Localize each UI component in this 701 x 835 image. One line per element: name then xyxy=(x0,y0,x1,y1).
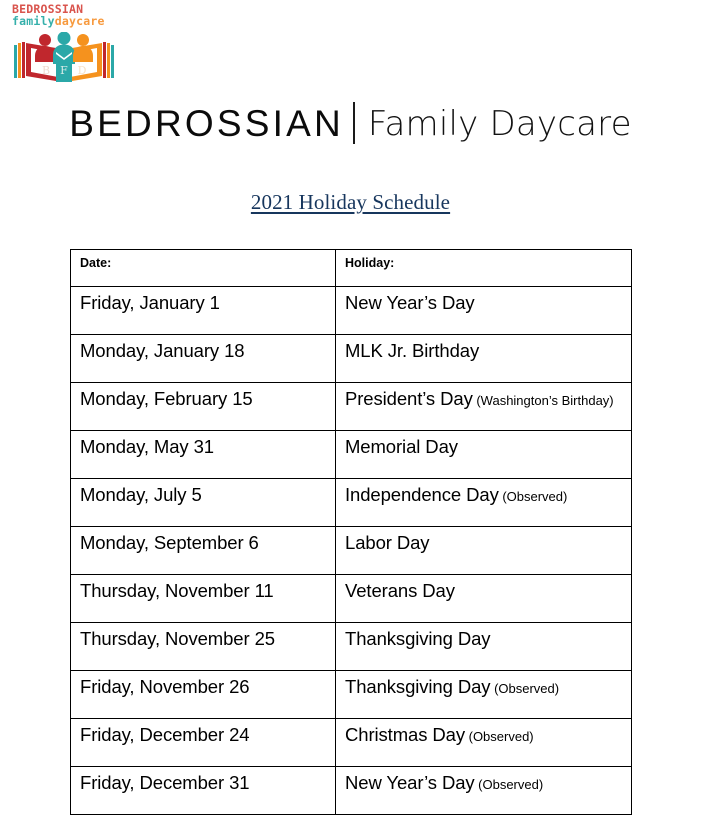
table-header-row: Date: Holiday: xyxy=(71,250,632,287)
cell-holiday: Veterans Day xyxy=(336,575,632,623)
holiday-name: President’s Day xyxy=(345,388,473,409)
holiday-note: (Observed) xyxy=(465,729,534,744)
table-row: Monday, February 15President’s Day (Wash… xyxy=(71,383,632,431)
cell-holiday: Thanksgiving Day (Observed) xyxy=(336,671,632,719)
holiday-note: (Observed) xyxy=(490,681,559,696)
cell-date: Thursday, November 11 xyxy=(71,575,336,623)
table-row: Friday, January 1New Year’s Day xyxy=(71,287,632,335)
holiday-name: Labor Day xyxy=(345,532,429,553)
cell-holiday: Labor Day xyxy=(336,527,632,575)
cell-date: Monday, January 18 xyxy=(71,335,336,383)
cell-holiday: Memorial Day xyxy=(336,431,632,479)
brand-logo: BEDROSSIAN familydaycare B xyxy=(12,4,124,88)
table-row: Thursday, November 25Thanksgiving Day xyxy=(71,623,632,671)
holiday-name: MLK Jr. Birthday xyxy=(345,340,479,361)
brand-wordmark: BEDROSSIAN familydaycare xyxy=(12,4,124,28)
masthead: BEDROSSIANFamily Daycare xyxy=(0,103,701,145)
cell-holiday: New Year’s Day (Observed) xyxy=(336,767,632,815)
cell-holiday: New Year’s Day xyxy=(336,287,632,335)
holiday-name: Memorial Day xyxy=(345,436,458,457)
cell-date: Friday, November 26 xyxy=(71,671,336,719)
cell-holiday: MLK Jr. Birthday xyxy=(336,335,632,383)
holiday-name: New Year’s Day xyxy=(345,772,475,793)
cell-date: Monday, September 6 xyxy=(71,527,336,575)
table-header: Date: Holiday: xyxy=(71,250,632,287)
table-row: Monday, July 5Independence Day (Observed… xyxy=(71,479,632,527)
holiday-name: Veterans Day xyxy=(345,580,455,601)
cell-holiday: President’s Day (Washington’s Birthday) xyxy=(336,383,632,431)
cell-date: Thursday, November 25 xyxy=(71,623,336,671)
cell-date: Friday, January 1 xyxy=(71,287,336,335)
cell-holiday: Thanksgiving Day xyxy=(336,623,632,671)
table-row: Friday, December 24Christmas Day (Observ… xyxy=(71,719,632,767)
holiday-name: Christmas Day xyxy=(345,724,465,745)
holiday-note: (Washington’s Birthday) xyxy=(473,393,614,408)
holiday-schedule-table: Date: Holiday: Friday, January 1New Year… xyxy=(70,249,632,815)
page-title-text: 2021 Holiday Schedule xyxy=(251,190,450,214)
table-row: Friday, November 26Thanksgiving Day (Obs… xyxy=(71,671,632,719)
holiday-name: New Year’s Day xyxy=(345,292,475,313)
masthead-tagline: Family Daycare xyxy=(368,104,632,144)
column-header-holiday: Holiday: xyxy=(336,250,632,287)
cell-date: Friday, December 31 xyxy=(71,767,336,815)
holiday-schedule-page: { "brand": { "wordmark_line1": "BEDROSSI… xyxy=(0,0,701,835)
cell-holiday: Christmas Day (Observed) xyxy=(336,719,632,767)
table-row: Thursday, November 11Veterans Day xyxy=(71,575,632,623)
cell-date: Monday, July 5 xyxy=(71,479,336,527)
logo-letter-b: B xyxy=(42,64,50,77)
holiday-name: Thanksgiving Day xyxy=(345,628,490,649)
holiday-name: Thanksgiving Day xyxy=(345,676,490,697)
table-row: Monday, January 18MLK Jr. Birthday xyxy=(71,335,632,383)
table-row: Monday, May 31Memorial Day xyxy=(71,431,632,479)
open-book-with-children-icon: B F D xyxy=(12,32,116,88)
logo-letter-f: F xyxy=(60,64,68,77)
logo-letter-d: D xyxy=(78,64,87,77)
masthead-divider xyxy=(353,102,355,144)
column-header-date: Date: xyxy=(71,250,336,287)
table-row: Monday, September 6Labor Day xyxy=(71,527,632,575)
cell-date: Friday, December 24 xyxy=(71,719,336,767)
holiday-note: (Observed) xyxy=(499,489,568,504)
cell-date: Monday, May 31 xyxy=(71,431,336,479)
masthead-business-name: BEDROSSIAN xyxy=(69,103,344,144)
table-row: Friday, December 31New Year’s Day (Obser… xyxy=(71,767,632,815)
holiday-schedule-table-container: Date: Holiday: Friday, January 1New Year… xyxy=(70,249,631,815)
page-title: 2021 Holiday Schedule xyxy=(0,190,701,215)
cell-date: Monday, February 15 xyxy=(71,383,336,431)
brand-wordmark-family: family xyxy=(12,14,55,28)
brand-wordmark-daycare: daycare xyxy=(55,14,105,28)
holiday-name: Independence Day xyxy=(345,484,499,505)
holiday-note: (Observed) xyxy=(475,777,544,792)
brand-wordmark-familydaycare: familydaycare xyxy=(12,16,124,28)
table-body: Friday, January 1New Year’s DayMonday, J… xyxy=(71,287,632,815)
cell-holiday: Independence Day (Observed) xyxy=(336,479,632,527)
